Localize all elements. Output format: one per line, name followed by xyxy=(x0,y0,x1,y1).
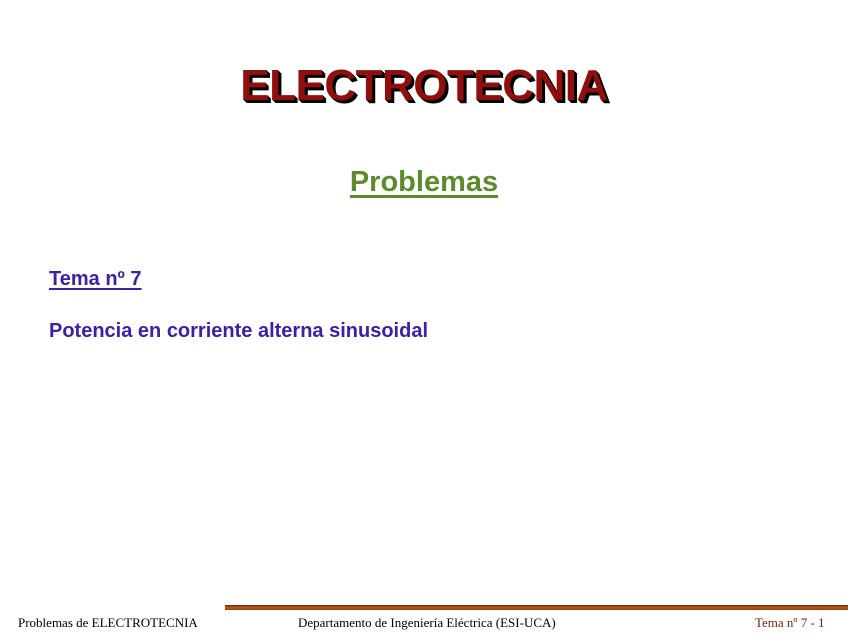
topic-title-label: Potencia en corriente alterna sinusoidal xyxy=(49,320,749,343)
topic-number-label: Tema nº 7 xyxy=(49,268,142,291)
footer-left-text: Problemas de ELECTROTECNIA xyxy=(18,615,198,631)
footer-divider xyxy=(225,605,848,610)
slide-canvas: ELECTROTECNIA Problemas Tema nº 7 Potenc… xyxy=(0,0,848,635)
footer-center-text: Departamento de Ingeniería Eléctrica (ES… xyxy=(298,615,556,631)
page-title: ELECTROTECNIA xyxy=(0,62,848,110)
slide-body: Tema nº 7 Potencia en corriente alterna … xyxy=(49,268,749,343)
slide-subtitle: Problemas xyxy=(0,166,848,199)
footer-page-number: Tema nº 7 - 1 xyxy=(755,615,825,631)
footer: Problemas de ELECTROTECNIA Departamento … xyxy=(0,612,848,635)
